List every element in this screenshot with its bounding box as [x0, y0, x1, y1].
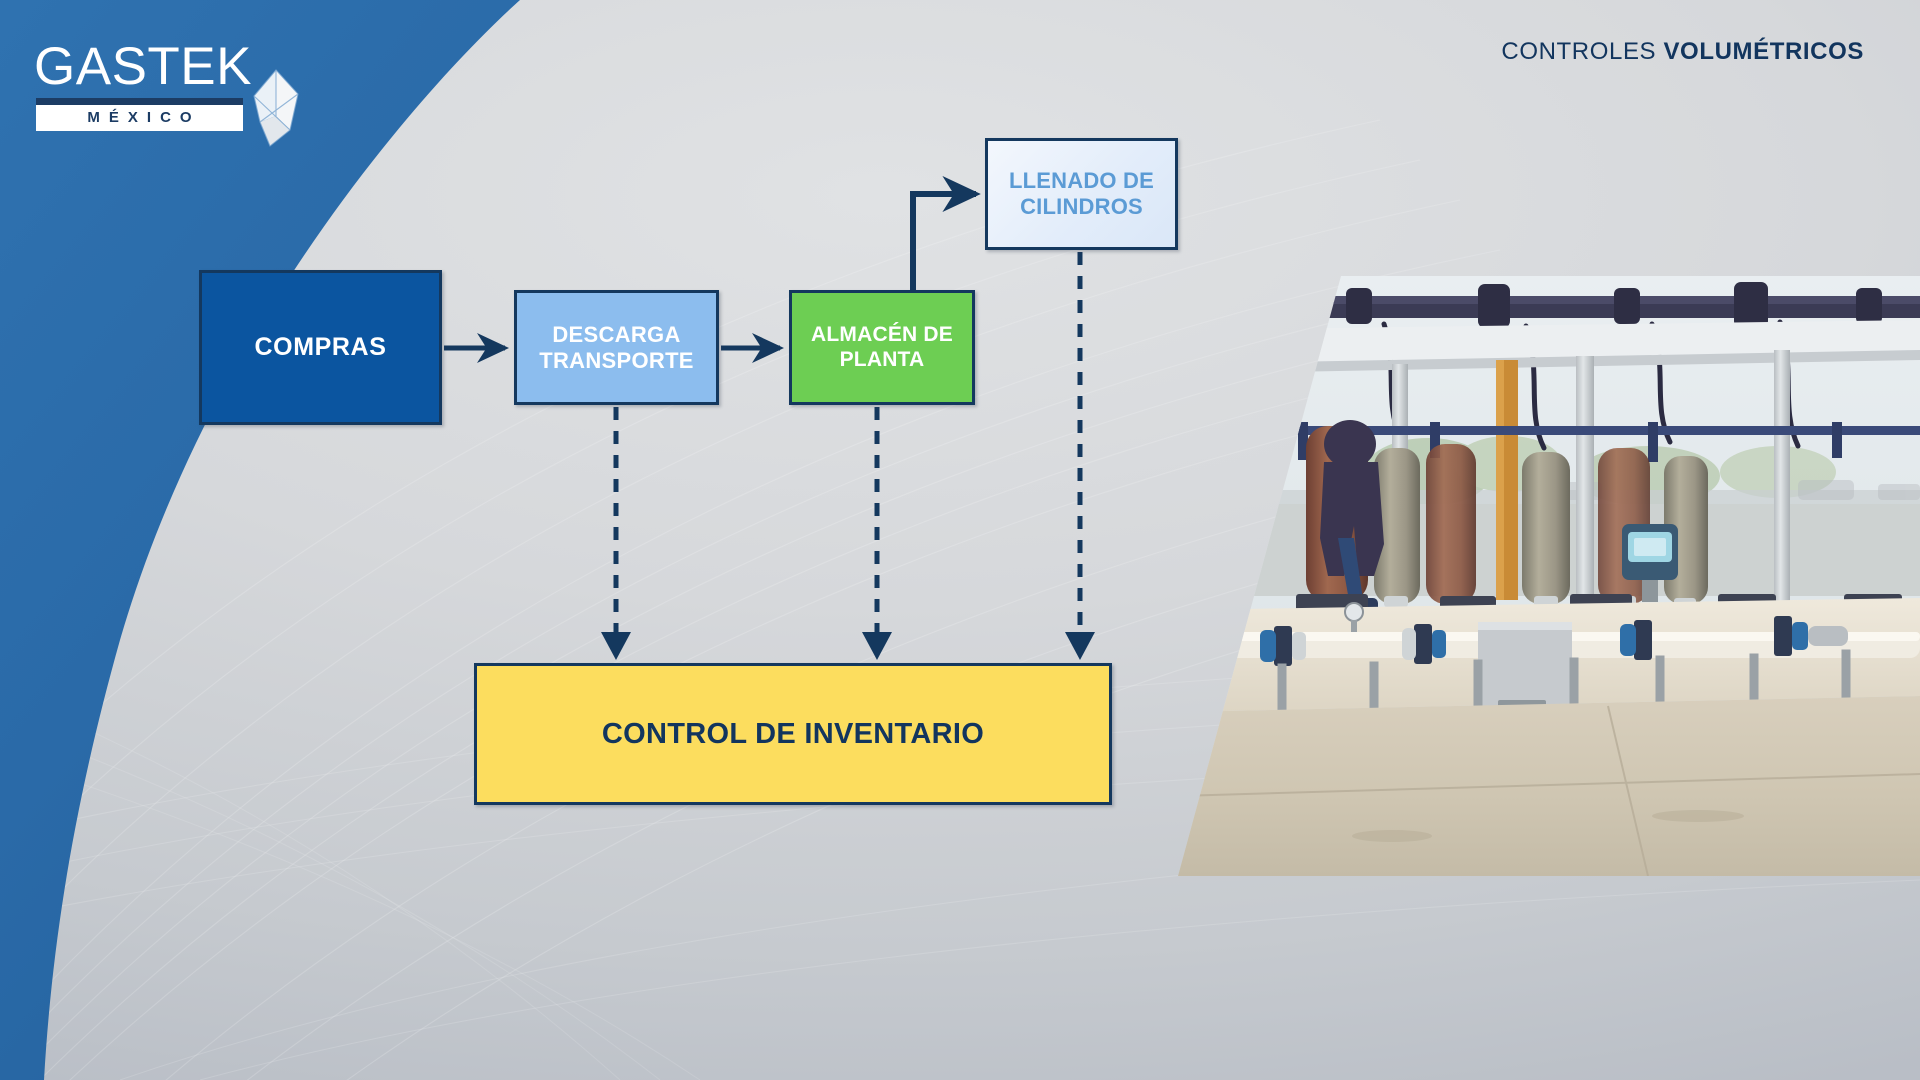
flow-node-descarga-transporte[interactable]: DESCARGA TRANSPORTE [514, 290, 719, 405]
flow-node-almacen-planta[interactable]: ALMACÉN DE PLANTA [789, 290, 975, 405]
gas-cylinder-filling-station-photo [1178, 276, 1920, 876]
flow-node-llenado-cilindros-label: LLENADO DE CILINDROS [988, 168, 1175, 220]
slide-canvas: GASTEK MÉXICO CONTROLES VOLUMÉTRICOS [0, 0, 1920, 1080]
flow-node-control-inventario-label: CONTROL DE INVENTARIO [602, 717, 984, 751]
connector-almacen-llenado [913, 194, 976, 290]
flow-node-control-inventario[interactable]: CONTROL DE INVENTARIO [474, 663, 1112, 805]
photo-artwork [1178, 276, 1920, 876]
flow-node-almacen-planta-label: ALMACÉN DE PLANTA [792, 323, 972, 373]
flow-node-compras-label: COMPRAS [255, 333, 387, 363]
flow-node-descarga-transporte-label: DESCARGA TRANSPORTE [517, 322, 716, 374]
flow-node-compras[interactable]: COMPRAS [199, 270, 442, 425]
flow-node-llenado-cilindros[interactable]: LLENADO DE CILINDROS [985, 138, 1178, 250]
